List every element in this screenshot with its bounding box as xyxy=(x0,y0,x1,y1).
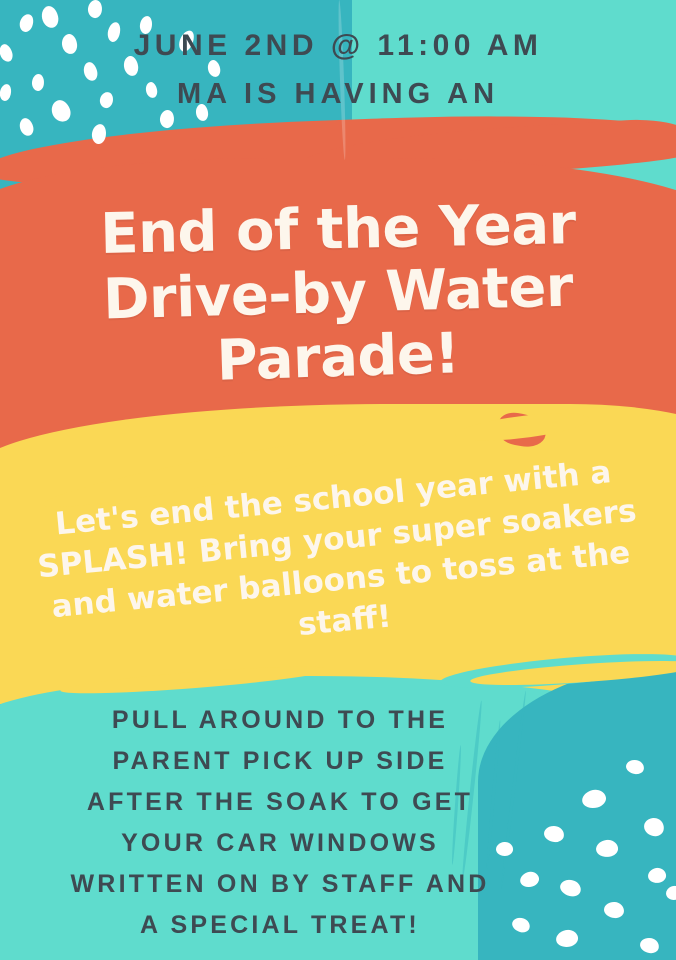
event-datetime-line: JUNE 2ND @ 11:00 AM xyxy=(0,22,676,70)
page-title: End of the Year Drive-by Water Parade! xyxy=(30,198,646,390)
footer-line-3: AFTER THE SOAK TO GET xyxy=(0,782,560,823)
poster-flyer: JUNE 2ND @ 11:00 AM MA IS HAVING AN End … xyxy=(0,0,676,960)
footer-line-6: A SPECIAL TREAT! xyxy=(0,905,560,946)
footer-instructions: PULL AROUND TO THE PARENT PICK UP SIDE A… xyxy=(0,700,560,946)
footer-line-5: WRITTEN ON BY STAFF AND xyxy=(0,864,560,905)
footer-line-4: YOUR CAR WINDOWS xyxy=(0,823,560,864)
event-header: JUNE 2ND @ 11:00 AM MA IS HAVING AN xyxy=(0,22,676,118)
event-host-line: MA IS HAVING AN xyxy=(0,70,676,118)
footer-line-1: PULL AROUND TO THE xyxy=(0,700,560,741)
footer-line-2: PARENT PICK UP SIDE xyxy=(0,741,560,782)
